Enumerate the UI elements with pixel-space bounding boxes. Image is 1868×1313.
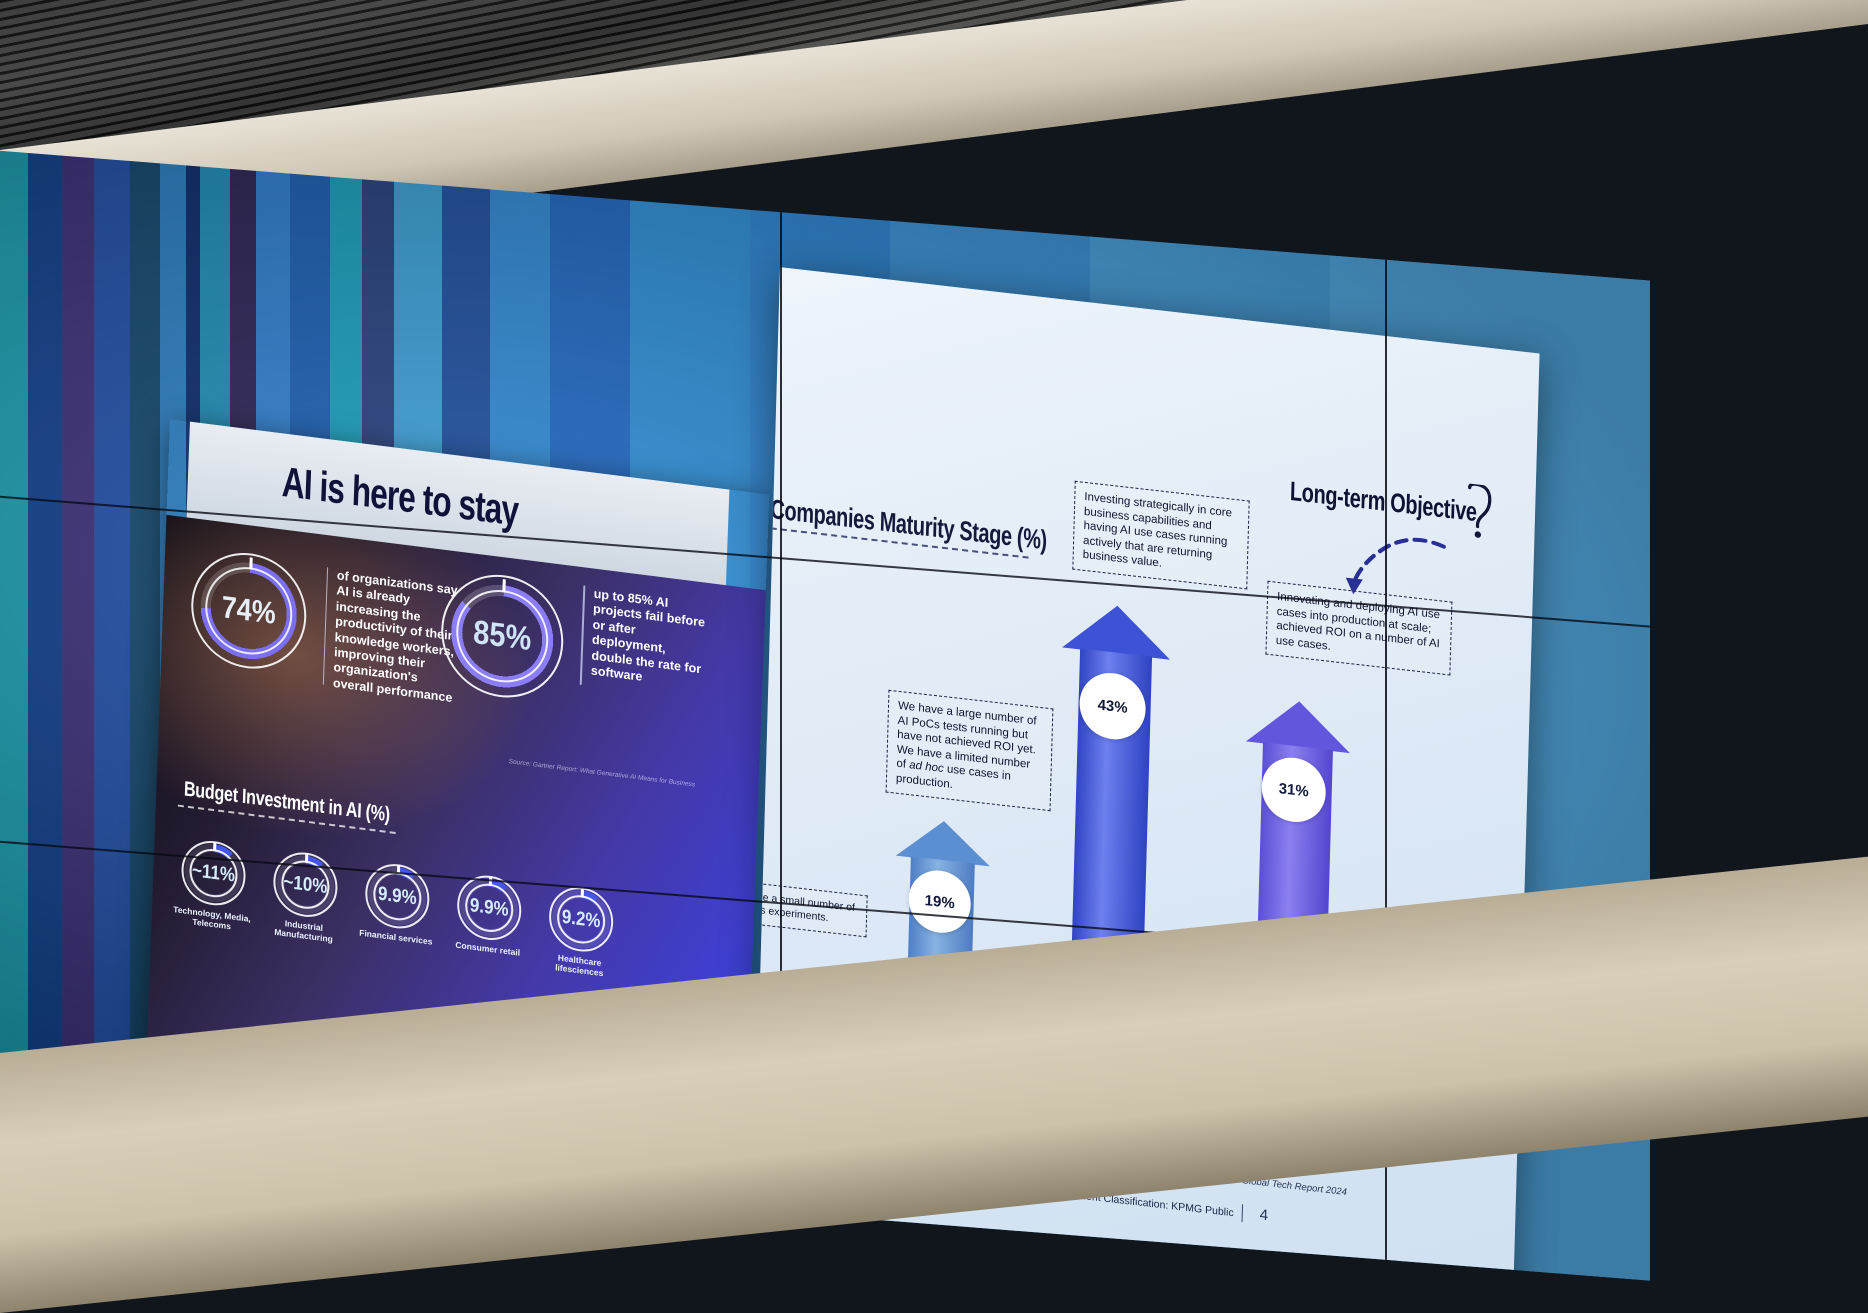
donut-85-value: 85% xyxy=(439,559,566,714)
budget-donut-1-value: ~10% xyxy=(272,844,339,925)
donut-85-text: up to 85% AI projects fail before or aft… xyxy=(590,587,707,701)
budget-donut-1: ~10%Industrial Manufacturing xyxy=(272,849,338,921)
bar-scaling-ai-head xyxy=(1246,695,1351,753)
footer-divider xyxy=(1242,1204,1244,1222)
source-gartner: Source: Gartner Report: What Generative … xyxy=(509,758,724,792)
donut-74: 74% xyxy=(189,546,308,675)
donut-85-description: up to 85% AI projects fail before or aft… xyxy=(580,585,708,700)
budget-donut-4-value: 9.2% xyxy=(548,879,615,960)
bullet-bar-85 xyxy=(580,585,585,685)
budget-donut-0-value: ~11% xyxy=(180,832,247,913)
donut-85: 85% xyxy=(439,568,565,705)
callout-strategically-investing-text: Investing strategically in core business… xyxy=(1083,491,1233,570)
callout-testing-ai: We have a large number of AI PoCs tests … xyxy=(886,690,1054,811)
bullet-bar-74 xyxy=(323,567,328,685)
strategically-investing-percent: 43% xyxy=(1097,696,1127,716)
callout-strategically-investing: Investing strategically in core business… xyxy=(1072,481,1249,589)
maturity-chart-title: Companies Maturity Stage (%) xyxy=(770,495,1047,558)
budget-donut-0: ~11%Technology, Media, Telecoms xyxy=(180,837,246,909)
budget-donut-4: 9.2%Healthcare lifesciences xyxy=(548,883,614,955)
exclamation-icon xyxy=(1464,483,1500,543)
testing-ai-percent: 19% xyxy=(924,891,954,911)
screenshot-root: AI is here to stay 74% of organizations … xyxy=(0,0,1868,1313)
scaling-ai-percent: 31% xyxy=(1278,780,1308,800)
donut-74-value: 74% xyxy=(189,538,309,684)
callout-testing-ai-text: We have a large number of AI PoCs tests … xyxy=(896,700,1037,791)
page-number: 4 xyxy=(1260,1206,1269,1224)
page-title: AI is here to stay xyxy=(281,458,519,536)
long-term-objective-label: Long-term Objective xyxy=(1290,477,1478,529)
budget-donut-2-value: 9.9% xyxy=(364,856,431,937)
bar-strategically-investing-head xyxy=(1062,600,1171,660)
